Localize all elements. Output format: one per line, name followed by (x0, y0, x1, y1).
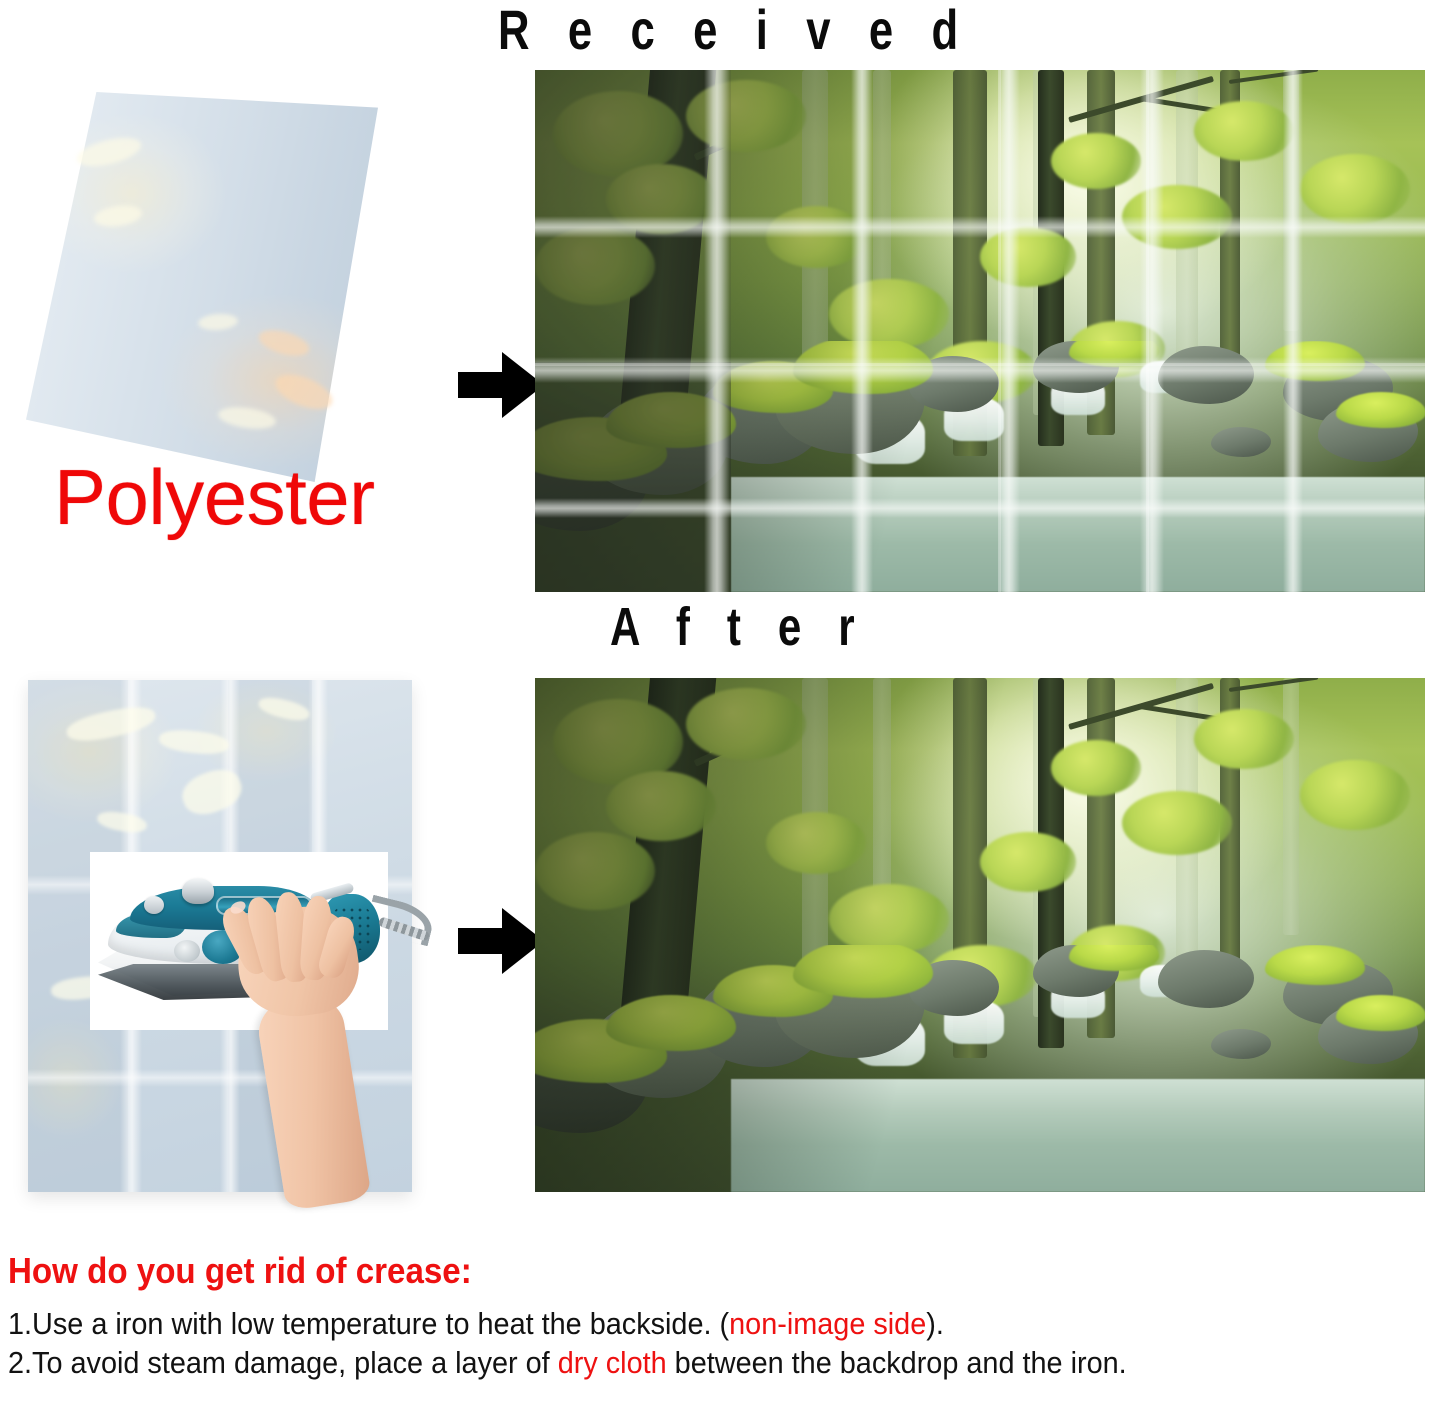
hand-on-iron (214, 900, 404, 1200)
forest-scene (535, 678, 1425, 1192)
polyester-label: Polyester (54, 458, 375, 536)
iron-steam-knob (182, 878, 214, 904)
scene-shadow (535, 70, 1425, 592)
arrow-right-icon (458, 908, 544, 974)
arrow-shaft (458, 928, 508, 954)
instruction-step-2: 2.To avoid steam damage, place a layer o… (8, 1343, 1332, 1383)
folded-fabric-cloth (26, 92, 378, 482)
instruction-step-1: 1.Use a iron with low temperature to hea… (8, 1304, 1332, 1344)
infographic-canvas: R e c e i v e d Polyester (0, 0, 1436, 1402)
care-instructions: How do you get rid of crease: 1.Use a ir… (8, 1252, 1432, 1383)
forearm (254, 991, 372, 1212)
iron-spray-button (144, 896, 164, 914)
scene-shadow (535, 678, 1425, 1192)
arrow-shaft (458, 372, 508, 398)
after-backdrop-photo (535, 678, 1425, 1192)
arrow-right-icon (458, 352, 544, 418)
received-heading: R e c e i v e d (498, 2, 971, 58)
step2-highlight: dry cloth (558, 1345, 667, 1380)
forest-scene (535, 70, 1425, 592)
step2-text-b: between the backdrop and the iron. (667, 1345, 1127, 1380)
step1-highlight: non-image side (729, 1306, 926, 1341)
step1-text-a: 1.Use a iron with low temperature to hea… (8, 1306, 729, 1341)
step1-text-b: ). (926, 1306, 944, 1341)
received-backdrop-photo (535, 70, 1425, 592)
after-heading: A f t e r (610, 600, 867, 654)
instructions-title: How do you get rid of crease: (8, 1252, 1318, 1290)
iron-secondary-dial (174, 940, 200, 962)
step2-text-a: 2.To avoid steam damage, place a layer o… (8, 1345, 558, 1380)
folded-fabric-swatch (22, 78, 442, 498)
